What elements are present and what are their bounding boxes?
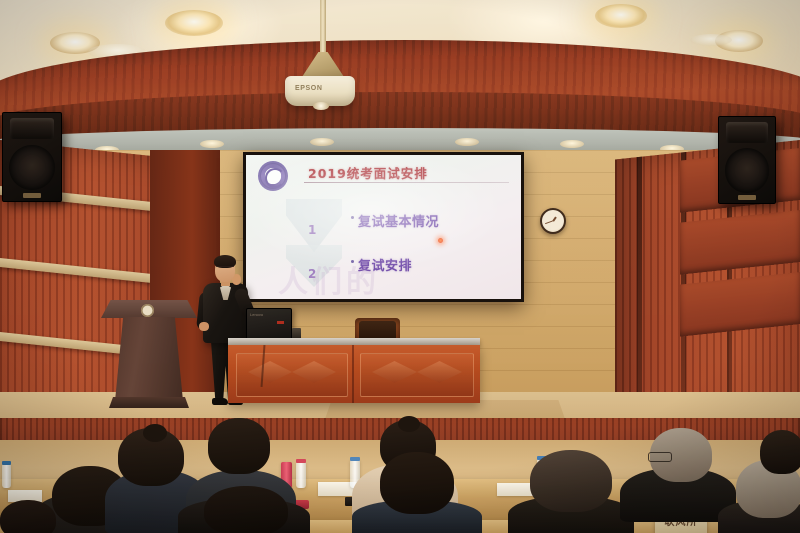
slide-watermark: 人们的 [278, 257, 511, 297]
water-bottle-1 [2, 464, 11, 488]
audience-head-7 [530, 450, 612, 512]
lecture-hall-photo: EPSON [0, 0, 800, 533]
laser-pointer-dot [438, 238, 443, 243]
slide-item-text-1: 复试基本情况 [358, 211, 439, 230]
strip-downlight-4 [455, 138, 479, 146]
pa-speaker-left [2, 112, 62, 202]
projector: EPSON [285, 76, 355, 106]
desk-monitor: Lenovo [246, 308, 292, 342]
strip-downlight-3 [310, 138, 334, 146]
bottle-cap-2 [296, 459, 306, 463]
audience-head-3 [208, 418, 270, 474]
ceiling-light-2 [595, 4, 647, 28]
speaker-logo-right [738, 195, 756, 200]
audience-head-11 [0, 500, 56, 533]
head-table-panel-left [236, 353, 348, 397]
slide-item-number-1: 1 [308, 223, 316, 237]
audience-hair-bun-5 [398, 416, 420, 432]
university-emblem-icon [258, 161, 288, 191]
speaker-logo-left [23, 193, 42, 198]
head-table-body [228, 345, 480, 403]
audience-glasses-icon-8 [648, 452, 672, 462]
emblem-ring [260, 163, 286, 189]
presenter-shoe-left [212, 398, 228, 405]
bottle-cap-3 [350, 457, 360, 461]
projection-screen-frame: 2019统考面试安排 1 复试基本情况 2 复试安排 人们的 [243, 152, 524, 302]
speaker-horn-right [726, 122, 769, 143]
ceiling-vent-2 [690, 34, 732, 46]
wall-clock [540, 208, 566, 234]
pa-speaker-right [718, 116, 776, 204]
head-table-seam [352, 345, 354, 403]
head-table-panel-right [360, 353, 474, 397]
speaker-woofer-right [725, 148, 770, 193]
bottle-cap-1 [2, 461, 11, 465]
projector-brand-label: EPSON [295, 85, 323, 92]
clock-minute-hand [545, 220, 553, 224]
audience-head-6 [380, 452, 454, 514]
slide-bullet-1: 复试基本情况 [351, 211, 439, 230]
projection-screen: 2019统考面试安排 1 复试基本情况 2 复试安排 人们的 [246, 155, 521, 299]
slide-title-underline [304, 182, 509, 183]
projector-lens [313, 102, 329, 110]
presenter-hand-left [199, 322, 209, 331]
ceiling-light-1 [165, 10, 223, 36]
slide-title: 2019统考面试安排 [308, 163, 507, 182]
clock-hour-hand [552, 216, 556, 221]
podium-body [115, 317, 183, 401]
strip-downlight-5 [560, 140, 584, 148]
bullet-dot-icon-1 [351, 216, 354, 219]
audience-head-4 [204, 486, 288, 533]
audience-hair-bun-2 [143, 424, 167, 442]
monitor-brand-label: Lenovo [250, 312, 263, 317]
speaker-woofer-left [9, 145, 55, 191]
monitor-indicator [277, 321, 284, 324]
audience-head-10 [760, 430, 800, 474]
podium-base [109, 397, 189, 408]
podium-emblem-icon [141, 304, 154, 317]
speaker-horn-left [10, 118, 54, 139]
water-bottle-2 [296, 462, 306, 488]
strip-downlight-2 [200, 140, 224, 148]
presenter-glasses-icon [216, 266, 234, 271]
projector-mount-rod [320, 0, 326, 60]
